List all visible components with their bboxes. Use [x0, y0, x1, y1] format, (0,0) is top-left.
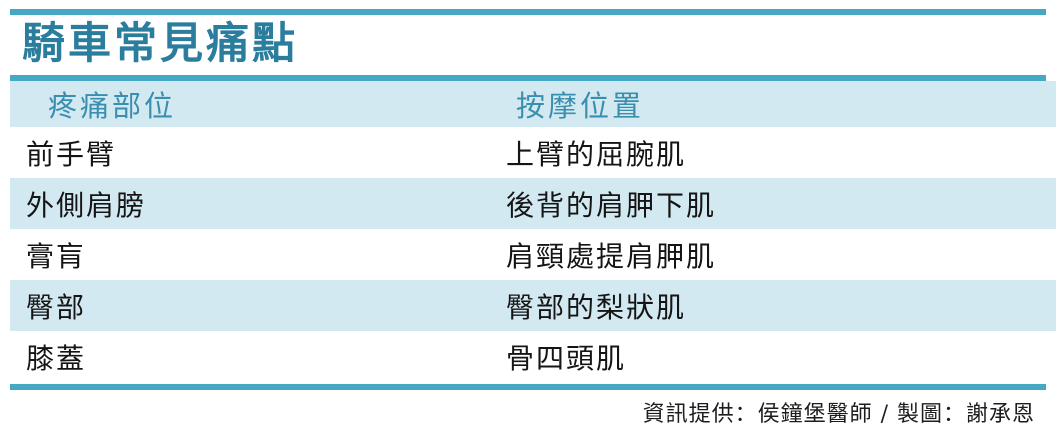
cell-massage-location: 上臂的屈腕肌 [478, 127, 1056, 178]
infographic-table-page: 騎車常見痛點 疼痛部位 按摩位置 前手臂 上臂的屈腕肌 外側肩膀 後背的肩胛下肌… [0, 0, 1056, 436]
table-row: 前手臂 上臂的屈腕肌 [10, 127, 1056, 178]
column-header-massage-location: 按摩位置 [478, 81, 1056, 127]
table-row: 外側肩膀 後背的肩胛下肌 [10, 178, 1056, 229]
table-row: 膏肓 肩頸處提肩胛肌 [10, 229, 1056, 280]
table-row: 膝蓋 骨四頭肌 [10, 331, 1056, 382]
cell-pain-site: 膏肓 [10, 229, 478, 280]
cell-massage-location: 肩頸處提肩胛肌 [478, 229, 1056, 280]
column-header-pain-site: 疼痛部位 [10, 81, 478, 127]
cell-massage-location: 臀部的梨狀肌 [478, 280, 1056, 331]
cell-massage-location: 骨四頭肌 [478, 331, 1056, 382]
cell-pain-site: 外側肩膀 [10, 178, 478, 229]
cell-pain-site: 臀部 [10, 280, 478, 331]
table-header-row: 疼痛部位 按摩位置 [10, 81, 1056, 127]
cell-massage-location: 後背的肩胛下肌 [478, 178, 1056, 229]
cell-pain-site: 膝蓋 [10, 331, 478, 382]
divider-top [10, 9, 1046, 15]
divider-bottom [10, 384, 1046, 390]
cell-pain-site: 前手臂 [10, 127, 478, 178]
credit-line: 資訊提供：侯鐘堡醫師 / 製圖：謝承恩 [643, 396, 1035, 428]
table-row: 臀部 臀部的梨狀肌 [10, 280, 1056, 331]
page-title: 騎車常見痛點 [22, 16, 298, 72]
pain-points-table: 疼痛部位 按摩位置 前手臂 上臂的屈腕肌 外側肩膀 後背的肩胛下肌 膏肓 肩頸處… [10, 81, 1056, 382]
